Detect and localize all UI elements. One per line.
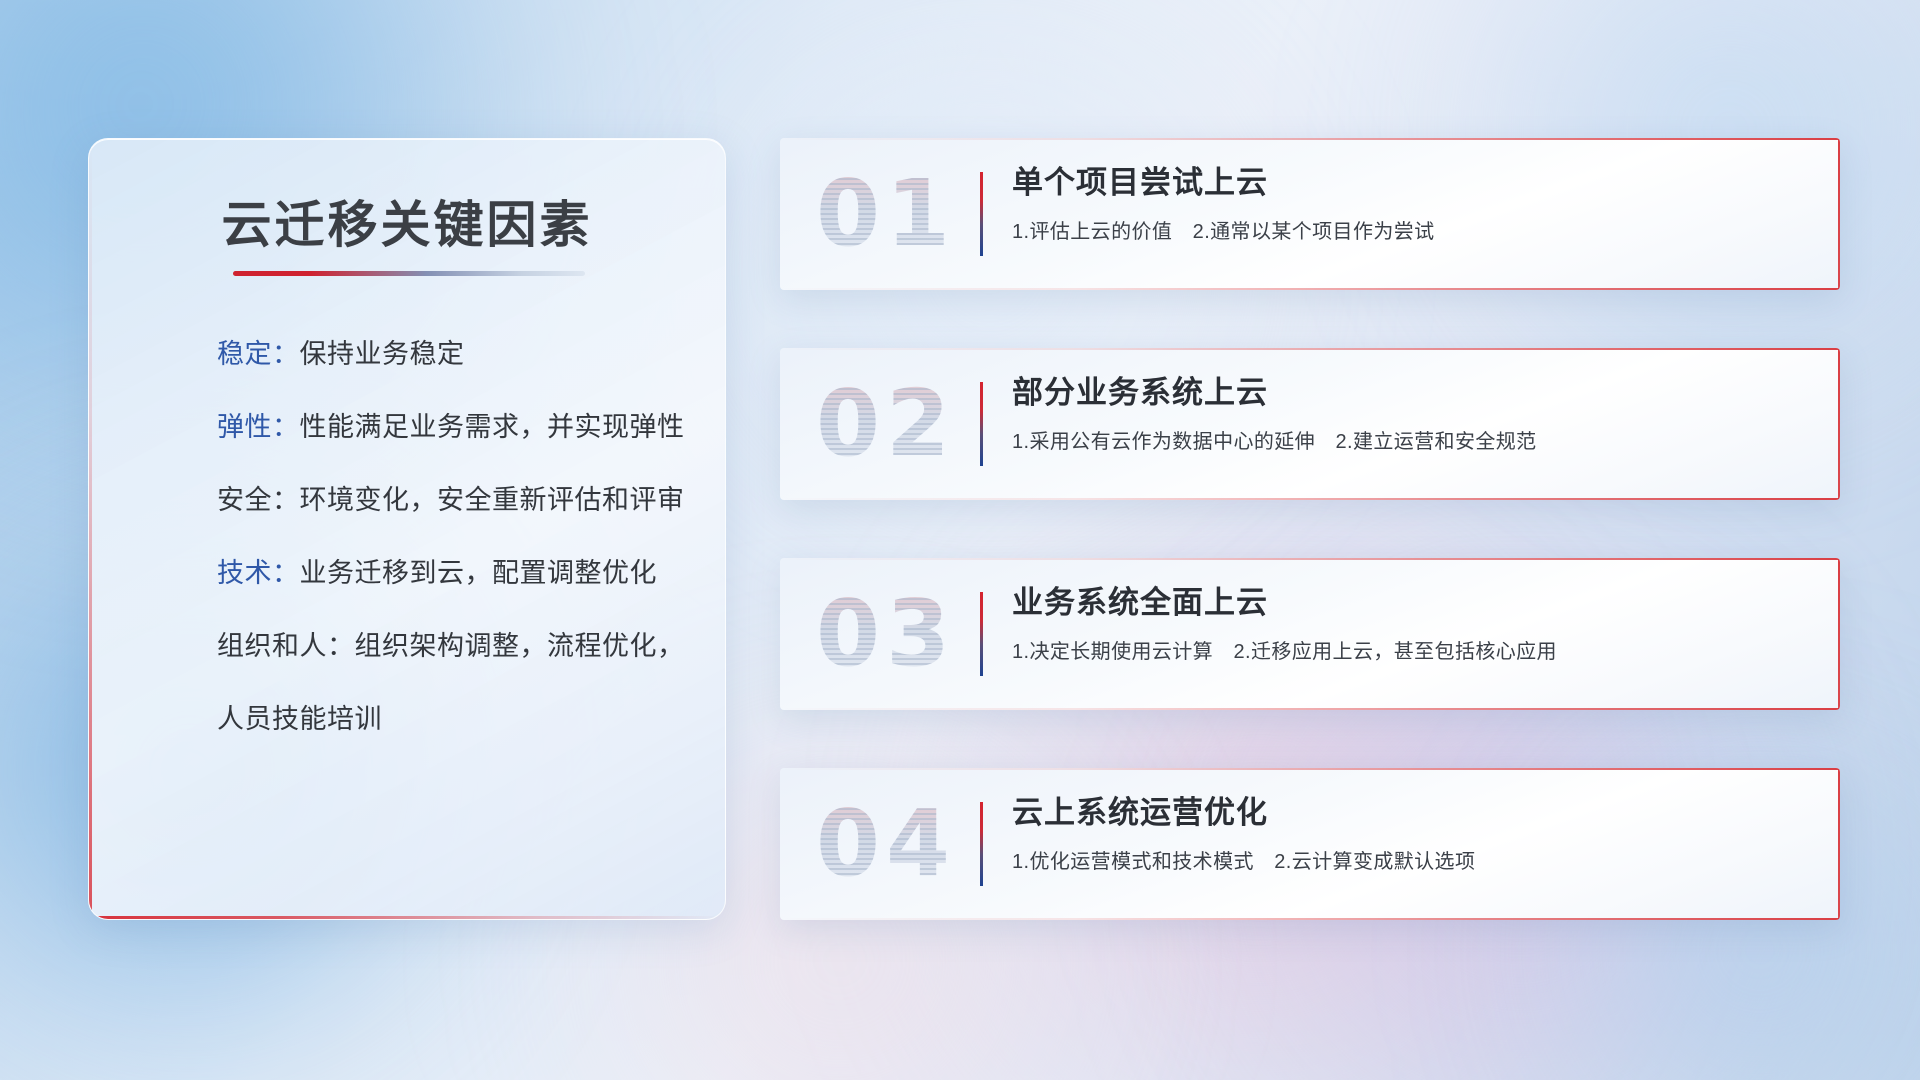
card-top-accent-line	[780, 558, 1840, 560]
stage-card[interactable]: 04云上系统运营优化1.优化运营模式和技术模式 2.云计算变成默认选项	[780, 768, 1840, 920]
factor-row: 安全：环境变化，安全重新评估和评审	[217, 487, 685, 514]
factor-text: 环境变化，安全重新评估和评审	[300, 485, 685, 515]
card-bottom-accent-line	[780, 288, 1840, 290]
card-divider-bar	[980, 592, 983, 676]
card-step-number: 02	[816, 378, 956, 470]
factor-text: 组织架构调整，流程优化，	[355, 631, 685, 661]
card-title: 云上系统运营优化	[1012, 794, 1810, 831]
card-step-number: 03	[816, 588, 956, 680]
card-description: 1.评估上云的价值 2.通常以某个项目作为尝试	[1012, 215, 1810, 244]
card-top-accent-line	[780, 138, 1840, 140]
factor-text: 保持业务稳定	[300, 339, 465, 369]
factor-label: 技术：	[217, 558, 300, 588]
stage-card[interactable]: 03业务系统全面上云1.决定长期使用云计算 2.迁移应用上云，甚至包括核心应用	[780, 558, 1840, 710]
factor-row: 组织和人：组织架构调整，流程优化，	[217, 633, 685, 660]
card-right-accent-line	[1838, 138, 1840, 290]
factor-label: 安全：	[217, 485, 300, 515]
card-description: 1.决定长期使用云计算 2.迁移应用上云，甚至包括核心应用	[1012, 635, 1810, 664]
page-title: 云迁移关键因素	[89, 185, 725, 257]
card-top-accent-line	[780, 348, 1840, 350]
card-body: 业务系统全面上云1.决定长期使用云计算 2.迁移应用上云，甚至包括核心应用	[1012, 584, 1810, 664]
stage-card[interactable]: 02部分业务系统上云1.采用公有云作为数据中心的延伸 2.建立运营和安全规范	[780, 348, 1840, 500]
card-divider-bar	[980, 172, 983, 256]
key-factors-panel: 云迁移关键因素 稳定：保持业务稳定弹性：性能满足业务需求，并实现弹性安全：环境变…	[88, 138, 726, 920]
factor-label: 稳定：	[217, 339, 300, 369]
card-divider-bar	[980, 382, 983, 466]
card-bottom-accent-line	[780, 708, 1840, 710]
factor-row: 技术：业务迁移到云，配置调整优化	[217, 560, 685, 587]
card-description: 1.采用公有云作为数据中心的延伸 2.建立运营和安全规范	[1012, 425, 1810, 454]
card-right-accent-line	[1838, 558, 1840, 710]
card-body: 云上系统运营优化1.优化运营模式和技术模式 2.云计算变成默认选项	[1012, 794, 1810, 874]
card-step-number: 04	[816, 798, 956, 890]
factor-row: 稳定：保持业务稳定	[217, 341, 685, 368]
title-underline-rule	[233, 271, 585, 276]
factor-label: 弹性：	[217, 412, 300, 442]
card-body: 部分业务系统上云1.采用公有云作为数据中心的延伸 2.建立运营和安全规范	[1012, 374, 1810, 454]
card-description: 1.优化运营模式和技术模式 2.云计算变成默认选项	[1012, 845, 1810, 874]
stage-card-list: 01单个项目尝试上云1.评估上云的价值 2.通常以某个项目作为尝试02部分业务系…	[780, 138, 1840, 920]
card-top-accent-line	[780, 768, 1840, 770]
factor-label: 组织和人：	[217, 631, 355, 661]
card-title: 业务系统全面上云	[1012, 584, 1810, 621]
slide-content: 云迁移关键因素 稳定：保持业务稳定弹性：性能满足业务需求，并实现弹性安全：环境变…	[0, 0, 1920, 1080]
card-divider-bar	[980, 802, 983, 886]
factor-text: 人员技能培训	[217, 704, 382, 734]
card-title: 部分业务系统上云	[1012, 374, 1810, 411]
factor-row: 弹性：性能满足业务需求，并实现弹性	[217, 414, 685, 441]
factor-text: 业务迁移到云，配置调整优化	[300, 558, 658, 588]
card-right-accent-line	[1838, 768, 1840, 920]
card-bottom-accent-line	[780, 498, 1840, 500]
card-step-number: 01	[816, 168, 956, 260]
card-body: 单个项目尝试上云1.评估上云的价值 2.通常以某个项目作为尝试	[1012, 164, 1810, 244]
card-bottom-accent-line	[780, 918, 1840, 920]
factor-list: 稳定：保持业务稳定弹性：性能满足业务需求，并实现弹性安全：环境变化，安全重新评估…	[217, 341, 685, 733]
card-title: 单个项目尝试上云	[1012, 164, 1810, 201]
card-right-accent-line	[1838, 348, 1840, 500]
factor-row: 人员技能培训	[217, 706, 685, 733]
stage-card[interactable]: 01单个项目尝试上云1.评估上云的价值 2.通常以某个项目作为尝试	[780, 138, 1840, 290]
factor-text: 性能满足业务需求，并实现弹性	[300, 412, 685, 442]
